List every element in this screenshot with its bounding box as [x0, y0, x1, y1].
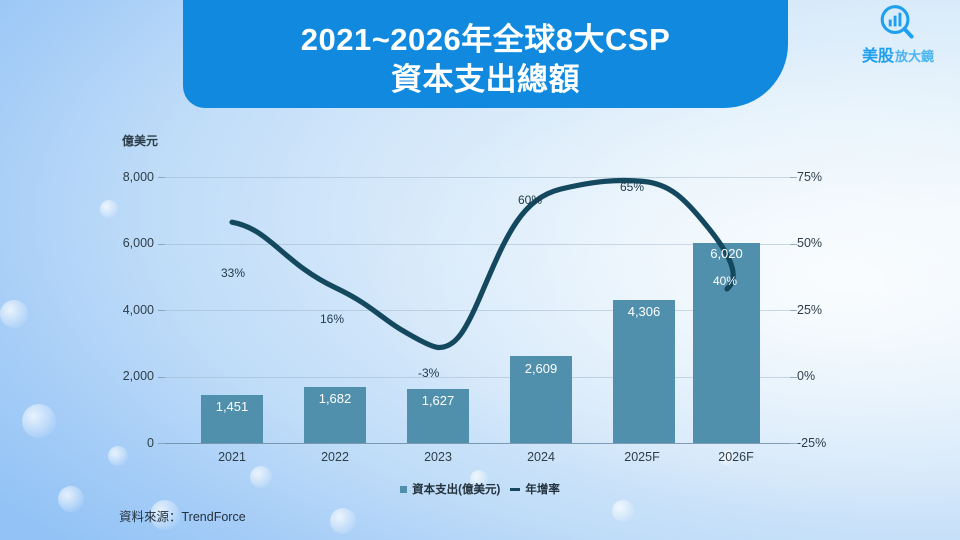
- y2-tick-mark: [790, 377, 797, 378]
- bar-value-2026F: 6,020: [693, 246, 760, 261]
- y2-tick-mark: [790, 443, 797, 444]
- y-tick-mark: [158, 310, 165, 311]
- y-tick-mark: [158, 244, 165, 245]
- x-tick-label-2022: 2022: [285, 450, 385, 464]
- legend-square-icon: [400, 486, 407, 493]
- chart-legend: 資本支出(億美元) 年增率: [0, 481, 960, 497]
- y2-tick-mark: [790, 310, 797, 311]
- y-tick-label: 0: [96, 436, 154, 450]
- y2-tick-label: 0%: [797, 369, 857, 383]
- y-tick-label: 4,000: [96, 303, 154, 317]
- y-axis-unit-label: 億美元: [122, 132, 158, 149]
- y-tick-mark: [158, 377, 165, 378]
- y2-tick-mark: [790, 177, 797, 178]
- legend-item-capex[interactable]: 資本支出(億美元): [400, 481, 500, 497]
- slide-canvas: 2021~2026年全球8大CSP 資本支出總額 美股 放大鏡 億美元: [0, 0, 960, 540]
- growth-label-2021: 33%: [221, 266, 245, 280]
- y-tick-mark: [158, 443, 165, 444]
- bar-value-2024: 2,609: [510, 361, 572, 376]
- growth-label-2023: -3%: [418, 366, 439, 380]
- bar-value-2023: 1,627: [407, 393, 469, 408]
- x-tick-label-2024: 2024: [491, 450, 591, 464]
- growth-label-2026F: 40%: [713, 274, 737, 288]
- x-tick-label-2021: 2021: [182, 450, 282, 464]
- growth-label-2025F: 65%: [620, 180, 644, 194]
- y2-tick-label: -25%: [797, 436, 857, 450]
- bar-value-2025F: 4,306: [613, 304, 675, 319]
- combo-chart: 億美元 8,000 6,000 4,000 2,000 0: [0, 0, 960, 540]
- y2-tick-label: 75%: [797, 170, 857, 184]
- y2-tick-mark: [790, 244, 797, 245]
- bar-value-2021: 1,451: [201, 399, 263, 414]
- source-note: 資料來源：TrendForce: [119, 506, 246, 525]
- x-tick-label-2025F: 2025F: [592, 450, 692, 464]
- y2-tick-label: 25%: [797, 303, 857, 317]
- legend-line-icon: [510, 488, 520, 491]
- y-tick-mark: [158, 177, 165, 178]
- growth-label-2022: 16%: [320, 312, 344, 326]
- x-tick-label-2026F: 2026F: [686, 450, 786, 464]
- y2-tick-label: 50%: [797, 236, 857, 250]
- y-tick-label: 8,000: [96, 170, 154, 184]
- legend-label-growth: 年增率: [525, 481, 560, 497]
- legend-label-capex: 資本支出(億美元): [412, 481, 500, 497]
- y-tick-label: 6,000: [96, 236, 154, 250]
- growth-label-2024: 60%: [518, 193, 542, 207]
- y-tick-label: 2,000: [96, 369, 154, 383]
- legend-item-growth[interactable]: 年增率: [510, 481, 560, 497]
- bar-value-2022: 1,682: [304, 391, 366, 406]
- x-tick-label-2023: 2023: [388, 450, 488, 464]
